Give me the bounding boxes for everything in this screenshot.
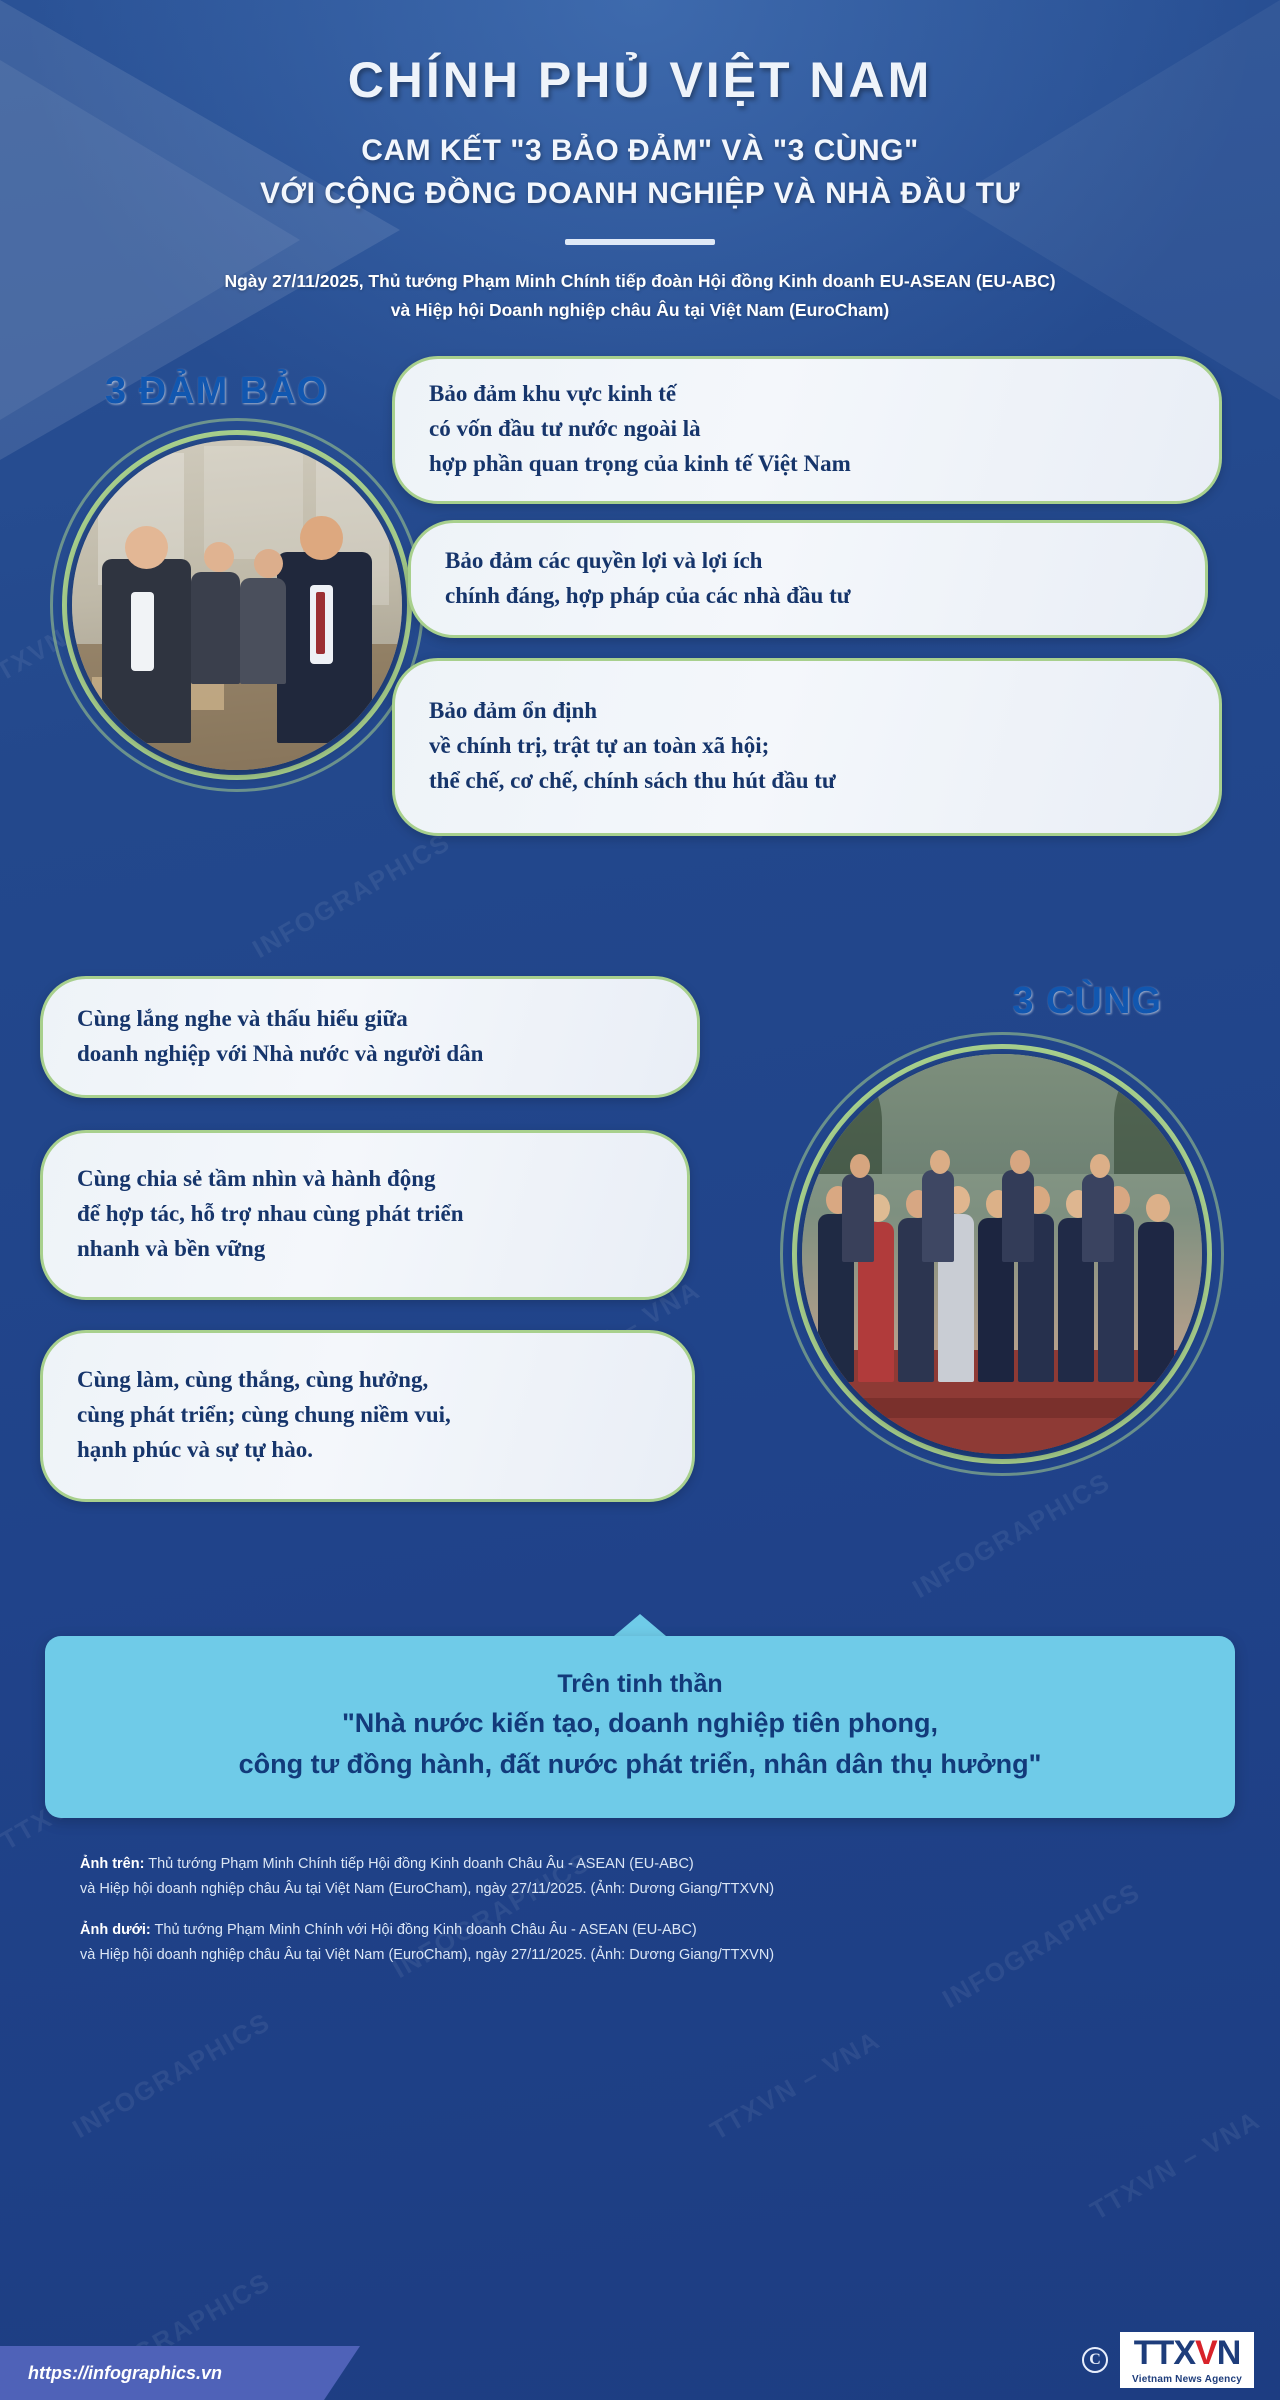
section-assurances-heading: 3 ĐẢM BẢO bbox=[105, 370, 327, 413]
ttxvn-logo-part-1: TTX bbox=[1134, 2336, 1195, 2370]
ttxvn-logo-part-2: V bbox=[1195, 2336, 1217, 2370]
spirit-lead-text: Trên tinh thần bbox=[85, 1666, 1195, 1704]
spirit-arrow-icon bbox=[614, 1614, 666, 1636]
together-1-line-1: Cùng lắng nghe và thấu hiểu giữa bbox=[77, 1002, 483, 1037]
deck-line-2: và Hiệp hội Doanh nghiệp châu Âu tại Việ… bbox=[140, 296, 1140, 324]
credit-bottom-line-1: Thủ tướng Phạm Minh Chính với Hội đồng K… bbox=[155, 1922, 697, 1938]
group-photo bbox=[802, 1054, 1202, 1454]
together-card-2: Cùng chia sẻ tầm nhìn và hành động để hợ… bbox=[40, 1130, 690, 1300]
assurance-3-line-2: về chính trị, trật tự an toàn xã hội; bbox=[429, 729, 836, 764]
together-2-line-2: để hợp tác, hỗ trợ nhau cùng phát triển bbox=[77, 1197, 464, 1232]
assurance-3-line-3: thể chế, cơ chế, chính sách thu hút đầu … bbox=[429, 764, 836, 799]
ttxvn-logo: TTX V N Vietnam News Agency bbox=[1120, 2332, 1254, 2388]
watermark-ttxvn: TTXVN – VNA bbox=[1085, 2104, 1266, 2226]
section-togethers-heading: 3 CÙNG bbox=[1012, 980, 1162, 1023]
credit-bottom-first-line: Ảnh dưới: Thủ tướng Phạm Minh Chính với … bbox=[80, 1918, 1200, 1943]
footer: https://infographics.vn C TTX V N Vietna… bbox=[0, 2336, 1280, 2400]
header: CHÍNH PHỦ VIỆT NAM CAM KẾT "3 BẢO ĐẢM" V… bbox=[0, 0, 1280, 324]
credit-bottom-label: Ảnh dưới: bbox=[80, 1922, 151, 1938]
assurance-1-line-2: có vốn đầu tư nước ngoài là bbox=[429, 412, 851, 447]
deck-line-1: Ngày 27/11/2025, Thủ tướng Phạm Minh Chí… bbox=[140, 267, 1140, 295]
title-divider bbox=[565, 239, 715, 245]
togethers-photo-frame bbox=[802, 1054, 1202, 1454]
together-3-line-1: Cùng làm, cùng thắng, cùng hưởng, bbox=[77, 1363, 451, 1398]
assurance-1-line-1: Bảo đảm khu vực kinh tế bbox=[429, 377, 851, 412]
spirit-quote-line-1: "Nhà nước kiến tạo, doanh nghiệp tiên ph… bbox=[85, 1703, 1195, 1744]
assurance-card-1: Bảo đảm khu vực kinh tế có vốn đầu tư nư… bbox=[392, 356, 1222, 504]
together-3-line-3: hạnh phúc và sự tự hào. bbox=[77, 1433, 451, 1468]
credit-top-label: Ảnh trên: bbox=[80, 1856, 144, 1872]
credit-top-line-1: Thủ tướng Phạm Minh Chính tiếp Hội đồng … bbox=[148, 1856, 694, 1872]
credit-top: Ảnh trên: Thủ tướng Phạm Minh Chính tiếp… bbox=[80, 1852, 1200, 1902]
together-card-1: Cùng lắng nghe và thấu hiểu giữa doanh n… bbox=[40, 976, 700, 1098]
assurances-photo-frame bbox=[72, 440, 402, 770]
assurance-card-2: Bảo đảm các quyền lợi và lợi ích chính đ… bbox=[408, 520, 1208, 638]
ttxvn-logo-part-3: N bbox=[1217, 2336, 1241, 2370]
together-2-line-1: Cùng chia sẻ tầm nhìn và hành động bbox=[77, 1162, 464, 1197]
section-three-assurances: 3 ĐẢM BẢO bbox=[0, 352, 1280, 952]
spirit-callout: Trên tinh thần "Nhà nước kiến tạo, doanh… bbox=[45, 1614, 1235, 1819]
assurance-card-3: Bảo đảm ổn định về chính trị, trật tự an… bbox=[392, 658, 1222, 836]
footer-url-bar: https://infographics.vn bbox=[0, 2346, 360, 2400]
together-card-3: Cùng làm, cùng thắng, cùng hưởng, cùng p… bbox=[40, 1330, 695, 1502]
together-1-line-2: doanh nghiệp với Nhà nước và người dân bbox=[77, 1037, 483, 1072]
section-three-togethers: 3 CÙNG bbox=[0, 962, 1280, 1602]
page-subtitle-line2: VỚI CỘNG ĐỒNG DOANH NGHIỆP VÀ NHÀ ĐẦU TƯ bbox=[0, 173, 1280, 216]
assurance-2-line-1: Bảo đảm các quyền lợi và lợi ích bbox=[445, 544, 851, 579]
spirit-box: Trên tinh thần "Nhà nước kiến tạo, doanh… bbox=[45, 1636, 1235, 1819]
ttxvn-tagline: Vietnam News Agency bbox=[1120, 2373, 1254, 2388]
deck-text: Ngày 27/11/2025, Thủ tướng Phạm Minh Chí… bbox=[140, 267, 1140, 324]
credit-top-first-line: Ảnh trên: Thủ tướng Phạm Minh Chính tiếp… bbox=[80, 1852, 1200, 1877]
credit-bottom-line-2: và Hiệp hội doanh nghiệp châu Âu tại Việ… bbox=[80, 1943, 1200, 1968]
handshake-photo bbox=[72, 440, 402, 770]
copyright-icon: C bbox=[1082, 2347, 1108, 2373]
together-2-line-3: nhanh và bền vững bbox=[77, 1232, 464, 1267]
page-title: CHÍNH PHỦ VIỆT NAM bbox=[0, 52, 1280, 108]
watermark-ttxvn: TTXVN – VNA bbox=[705, 2024, 886, 2146]
footer-url-link[interactable]: https://infographics.vn bbox=[0, 2363, 222, 2384]
footer-logo: C TTX V N Vietnam News Agency bbox=[1082, 2332, 1254, 2388]
credit-bottom: Ảnh dưới: Thủ tướng Phạm Minh Chính với … bbox=[80, 1918, 1200, 1968]
ttxvn-wordmark: TTX V N bbox=[1120, 2332, 1254, 2373]
spirit-quote-line-2: công tư đồng hành, đất nước phát triển, … bbox=[85, 1744, 1195, 1785]
infographic-page: TTXVN – VNA INFOGRAPHICS TTXVN – VNA INF… bbox=[0, 0, 1280, 2400]
together-3-line-2: cùng phát triển; cùng chung niềm vui, bbox=[77, 1398, 451, 1433]
assurance-1-line-3: hợp phần quan trọng của kinh tế Việt Nam bbox=[429, 447, 851, 482]
photo-credits: Ảnh trên: Thủ tướng Phạm Minh Chính tiếp… bbox=[80, 1852, 1200, 1968]
assurance-3-line-1: Bảo đảm ổn định bbox=[429, 694, 836, 729]
assurance-2-line-2: chính đáng, hợp pháp của các nhà đầu tư bbox=[445, 579, 851, 614]
credit-top-line-2: và Hiệp hội doanh nghiệp châu Âu tại Việ… bbox=[80, 1877, 1200, 1902]
watermark-infographics: INFOGRAPHICS bbox=[67, 2006, 276, 2145]
page-subtitle: CAM KẾT "3 BẢO ĐẢM" VÀ "3 CÙNG" VỚI CỘNG… bbox=[0, 130, 1280, 215]
page-subtitle-line1: CAM KẾT "3 BẢO ĐẢM" VÀ "3 CÙNG" bbox=[0, 130, 1280, 173]
